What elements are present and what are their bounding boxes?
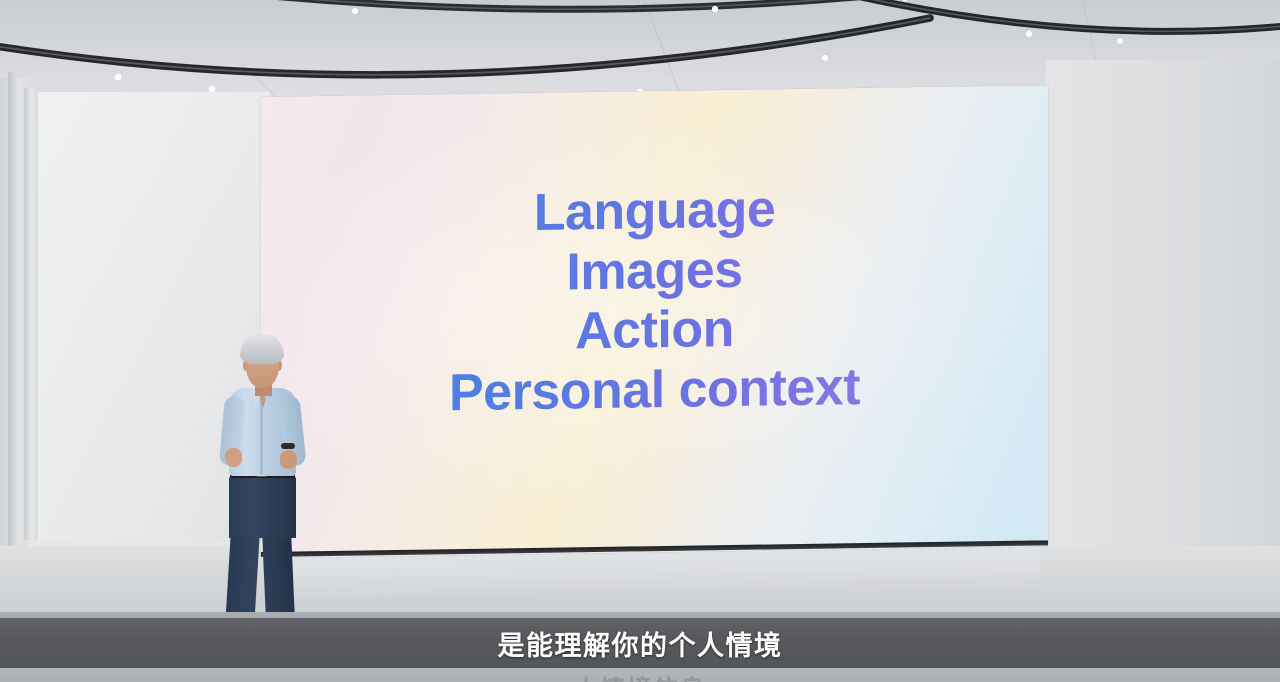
presenter-hand-right: [280, 450, 297, 469]
stage-floor: [0, 546, 1280, 618]
subtitle-text: 是能理解你的个人情境: [498, 624, 783, 663]
slide-text-block: Language Images Action Personal context: [261, 178, 1048, 428]
subtitle-bar: 是能理解你的个人情境: [0, 618, 1280, 668]
wall-panel-right: [1046, 60, 1280, 560]
presenter-watch: [281, 443, 295, 449]
presenter-hand-left: [225, 448, 242, 467]
slide-line-action: Action: [261, 298, 1048, 365]
screenshot-frame: Language Images Action Personal context …: [0, 0, 1280, 682]
presenter-jeans: [229, 476, 296, 538]
wall-left-seam: [8, 72, 17, 552]
subtitle-next-line-partial: 人情境信息: [0, 670, 1280, 682]
slide-line-personal-context: Personal context: [261, 357, 1048, 424]
presenter-hair: [240, 334, 284, 364]
presenter-shirt-placket: [260, 402, 263, 474]
subtitle-bottom-strip: 人情境信息: [0, 668, 1280, 682]
presenter: [196, 330, 324, 648]
slide-line-language: Language: [261, 178, 1048, 245]
slide-line-images: Images: [261, 238, 1048, 305]
